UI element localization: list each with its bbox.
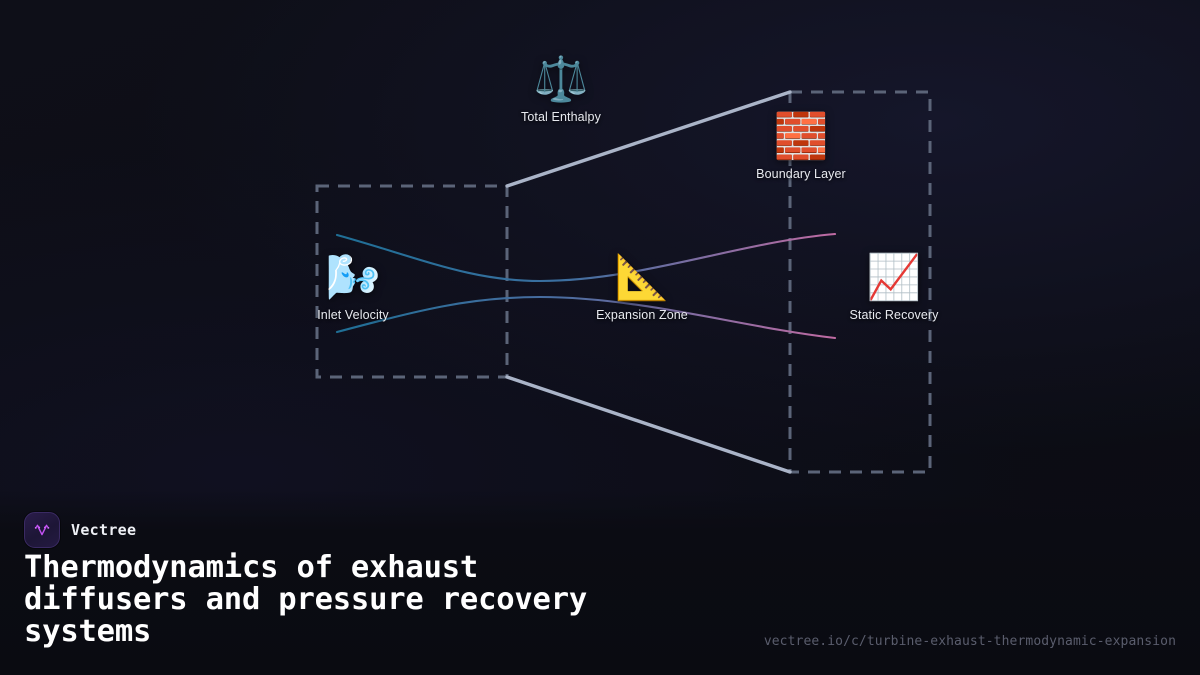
diagram-node-static-recovery[interactable]: 📈 Static Recovery [814, 253, 974, 322]
footer: Vectree Thermodynamics of exhaust diffus… [0, 490, 1200, 675]
vectree-glyph-icon [32, 520, 52, 540]
triangular-ruler-icon: 📐 [615, 253, 670, 303]
diagram-node-label: Expansion Zone [596, 308, 688, 322]
chart-increasing-icon: 📈 [867, 253, 922, 303]
diagram-canvas: ⚖️ Total Enthalpy 🧱 Boundary Layer 🌬️ In… [0, 0, 1200, 490]
lower-expansion-wall [507, 377, 790, 472]
wind-face-icon: 🌬️ [326, 253, 381, 303]
page-title: Thermodynamics of exhaust diffusers and … [24, 552, 764, 648]
diagram-node-boundary-layer[interactable]: 🧱 Boundary Layer [721, 112, 881, 181]
diagram-node-inlet-velocity[interactable]: 🌬️ Inlet Velocity [273, 253, 433, 322]
diagram-node-label: Boundary Layer [756, 167, 846, 181]
diagram-node-label: Inlet Velocity [317, 308, 389, 322]
vectree-logo [24, 512, 60, 548]
diagram-node-expansion-zone[interactable]: 📐 Expansion Zone [562, 253, 722, 322]
brand-name: Vectree [71, 521, 136, 539]
balance-scale-icon: ⚖️ [534, 55, 589, 105]
diagram-node-label: Total Enthalpy [521, 110, 601, 124]
brand-row[interactable]: Vectree [24, 512, 136, 548]
footer-url: vectree.io/c/turbine-exhaust-thermodynam… [764, 634, 1176, 649]
diagram-node-total-enthalpy[interactable]: ⚖️ Total Enthalpy [481, 55, 641, 124]
diagram-node-label: Static Recovery [849, 308, 938, 322]
brick-wall-icon: 🧱 [774, 112, 829, 162]
page-root: ⚖️ Total Enthalpy 🧱 Boundary Layer 🌬️ In… [0, 0, 1200, 675]
